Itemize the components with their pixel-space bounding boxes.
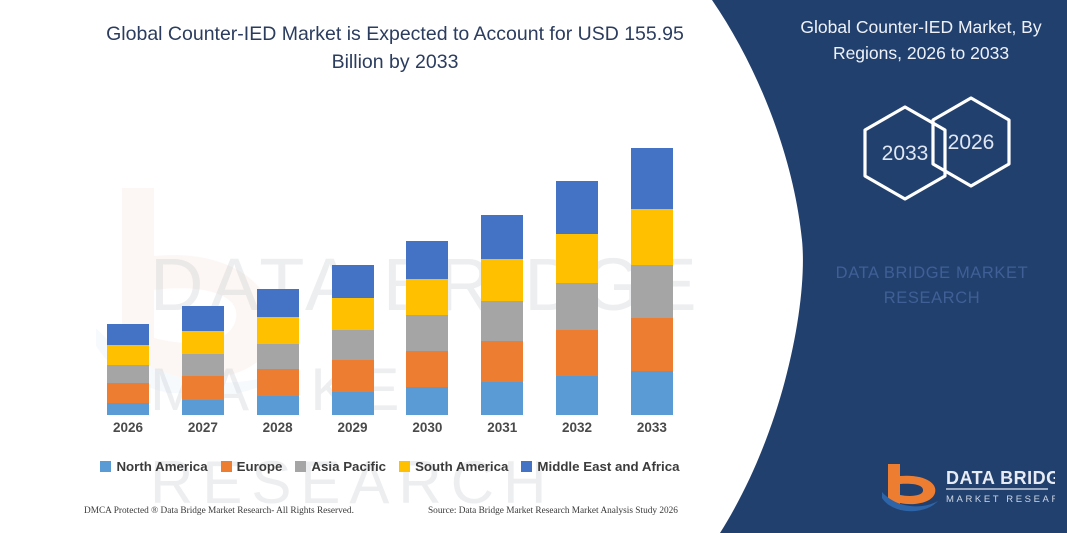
dbmr-logo: DATA BRIDGE MARKET RESEARCH [880,458,1055,512]
page-title: Global Counter-IED Market is Expected to… [95,20,695,77]
footer-copyright: DMCA Protected ® Data Bridge Market Rese… [84,506,354,516]
bar-segment[interactable] [556,234,598,283]
bar-segment[interactable] [107,403,149,415]
bar-segment[interactable] [332,392,374,415]
x-axis-tick-2029: 2029 [332,420,374,444]
bar-segment[interactable] [332,265,374,298]
brand-panel: Global Counter-IED Market, By Regions, 2… [690,0,1067,533]
bar-segment[interactable] [556,283,598,330]
x-axis-tick-2027: 2027 [182,420,224,444]
brand-line1: DATA BRIDGE MARKET [812,261,1052,286]
bar-segment[interactable] [631,265,673,318]
x-axis-tick-2030: 2030 [406,420,448,444]
bar-segment[interactable] [182,354,224,376]
bar-segment[interactable] [481,382,523,415]
bar-segment[interactable] [107,345,149,365]
bar-segment[interactable] [107,365,149,384]
bar-segment[interactable] [481,301,523,341]
legend-item[interactable]: North America [100,459,207,474]
bar-segment[interactable] [631,209,673,265]
x-axis-tick-2032: 2032 [556,420,598,444]
bar-segment[interactable] [556,376,598,415]
bar-column-2029[interactable] [332,265,374,415]
bar-segment[interactable] [107,324,149,345]
bar-segment[interactable] [257,344,299,370]
bar-segment[interactable] [406,315,448,350]
plot-area [95,120,685,415]
legend-label: North America [116,459,207,474]
bar-segment[interactable] [257,369,299,396]
legend-item[interactable]: Asia Pacific [295,459,386,474]
bar-segment[interactable] [406,241,448,280]
bar-segment[interactable] [481,341,523,382]
legend-swatch-icon [221,461,232,472]
bar-column-2030[interactable] [406,241,448,415]
legend-item[interactable]: Europe [221,459,283,474]
bar-column-2028[interactable] [257,289,299,415]
bar-segment[interactable] [556,330,598,377]
bar-segment[interactable] [556,181,598,234]
bar-column-2027[interactable] [182,306,224,415]
footer: DMCA Protected ® Data Bridge Market Rese… [0,506,760,528]
bar-segment[interactable] [107,383,149,403]
stacked-bars [95,120,685,415]
panel-title: Global Counter-IED Market, By Regions, 2… [790,14,1052,67]
x-axis-tick-2033: 2033 [631,420,673,444]
hexagon-2026-label: 2026 [948,131,995,154]
bar-segment[interactable] [406,351,448,387]
bar-segment[interactable] [481,259,523,301]
legend-item[interactable]: South America [399,459,508,474]
bar-segment[interactable] [332,330,374,360]
bar-segment[interactable] [631,371,673,416]
legend-swatch-icon [295,461,306,472]
x-axis-tick-2028: 2028 [257,420,299,444]
bar-segment[interactable] [481,215,523,260]
bar-column-2033[interactable] [631,148,673,415]
logo-tagline: MARKET RESEARCH [946,494,1055,505]
footer-source: Source: Data Bridge Market Research Mark… [428,506,678,516]
bar-segment[interactable] [182,400,224,415]
bar-column-2031[interactable] [481,215,523,415]
hexagon-2033-label: 2033 [882,142,929,165]
x-axis-tick-2026: 2026 [107,420,149,444]
legend-swatch-icon [521,461,532,472]
bar-segment[interactable] [257,289,299,317]
bar-segment[interactable] [406,279,448,315]
bar-segment[interactable] [257,396,299,415]
chart-pane: DATA BRIDGE MARKET RESEARCH Global Count… [0,0,760,533]
dbmr-logo-icon: DATA BRIDGE MARKET RESEARCH [880,458,1055,512]
logo-name: DATA BRIDGE [946,468,1055,488]
bar-segment[interactable] [182,376,224,399]
bar-column-2032[interactable] [556,181,598,415]
legend-label: Asia Pacific [311,459,386,474]
bar-segment[interactable] [257,317,299,344]
legend-swatch-icon [100,461,111,472]
bar-segment[interactable] [631,318,673,371]
brand-name: DATA BRIDGE MARKET RESEARCH [812,261,1052,311]
legend-item[interactable]: Middle East and Africa [521,459,679,474]
bar-segment[interactable] [332,298,374,330]
bar-segment[interactable] [182,306,224,331]
legend-label: Europe [237,459,283,474]
chart-legend: North AmericaEuropeAsia PacificSouth Ame… [95,455,685,477]
x-axis-labels: 20262027202820292030203120322033 [95,420,685,444]
bar-segment[interactable] [332,360,374,392]
legend-label: South America [415,459,508,474]
bar-column-2026[interactable] [107,324,149,415]
hexagon-pair-icon: 2033 2026 [810,92,1060,210]
bar-segment[interactable] [182,331,224,354]
x-axis-tick-2031: 2031 [481,420,523,444]
year-hexagons: 2033 2026 [810,92,1060,210]
bar-segment[interactable] [631,148,673,209]
legend-label: Middle East and Africa [537,459,679,474]
bar-segment[interactable] [406,387,448,415]
brand-line2: RESEARCH [812,286,1052,311]
legend-swatch-icon [399,461,410,472]
infographic-root: DATA BRIDGE MARKET RESEARCH Global Count… [0,0,1067,533]
